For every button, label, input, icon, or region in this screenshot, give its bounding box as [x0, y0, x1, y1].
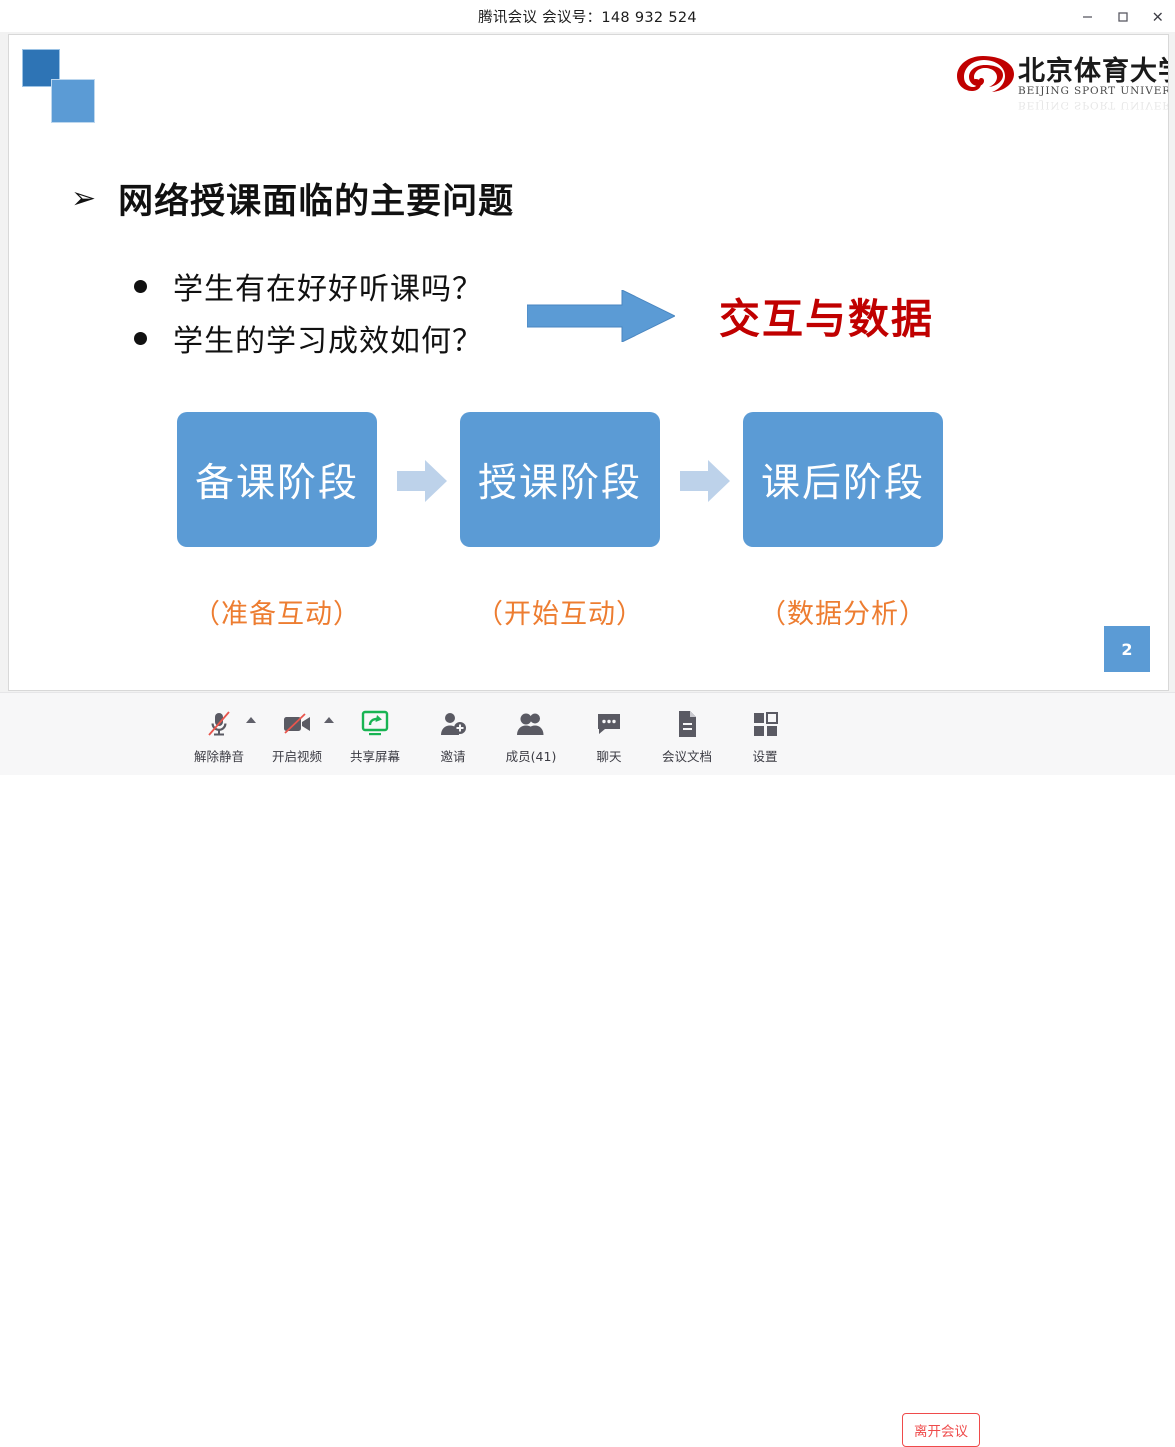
toolbar-button-invite[interactable]: 邀请 [414, 693, 492, 765]
decoration-square-light [51, 79, 95, 123]
flow-stage-label: 授课阶段 [478, 452, 642, 508]
flow-arrow-icon [680, 460, 730, 502]
bullet-text: 学生的学习成效如何？ [173, 316, 483, 360]
meeting-window: 腾讯会议 会议号：148 932 524 [0, 0, 1175, 774]
headline-arrow-icon: ➢ [71, 184, 96, 214]
flow-stage-box: 课后阶段 [743, 412, 943, 547]
toolbar-button-settings[interactable]: 设置 [726, 693, 804, 765]
window-controls [1070, 0, 1175, 32]
toolbar-label-invite: 邀请 [440, 746, 465, 765]
toolbar-button-mute[interactable]: 解除静音 [180, 693, 258, 765]
flow-captions: （准备互动） （开始互动） （数据分析） [177, 592, 967, 634]
participants-icon [513, 707, 549, 741]
slide-headline: ➢ 网络授课面临的主要问题 [71, 173, 514, 224]
chat-bubble-icon [591, 707, 627, 741]
settings-grid-icon [747, 707, 783, 741]
flow-caption: （数据分析） [743, 592, 943, 631]
bullet-dot-icon [134, 332, 147, 345]
logo-english-name: BEIJING SPORT UNIVERSITY [1018, 85, 1169, 97]
callout-arrow-icon [527, 290, 675, 342]
bullet-dot-icon [134, 280, 147, 293]
share-screen-icon [357, 707, 393, 741]
toolbar-button-participants[interactable]: 成员(41) [492, 693, 570, 765]
flow-caption: （准备互动） [177, 592, 377, 631]
flow-stage-box: 授课阶段 [460, 412, 660, 547]
microphone-muted-icon [201, 707, 237, 741]
chevron-up-icon-audio[interactable] [246, 717, 256, 723]
toolbar-label-participants: 成员(41) [506, 746, 557, 765]
chevron-up-icon-video[interactable] [324, 717, 334, 723]
slide-number-badge: 2 [1104, 626, 1150, 672]
logo-reflection: BEIJING SPORT UNIVERSITY [1018, 99, 1169, 111]
maximize-button[interactable] [1105, 0, 1140, 32]
toolbar-label-video: 开启视频 [272, 746, 322, 765]
swirl-mark-icon [952, 53, 1014, 101]
leave-meeting-button[interactable]: 离开会议 [902, 1413, 980, 1447]
camera-off-icon [279, 707, 315, 741]
toolbar-items: 解除静音 开启视频 [180, 693, 1000, 775]
toolbar-label-settings: 设置 [752, 746, 777, 765]
minimize-button[interactable] [1070, 0, 1105, 32]
bullet-list: 学生有在好好听课吗？ 学生的学习成效如何？ [134, 260, 483, 364]
headline-text: 网络授课面临的主要问题 [118, 173, 514, 224]
toolbar-label-documents: 会议文档 [662, 746, 712, 765]
toolbar-label-share-screen: 共享屏幕 [350, 746, 400, 765]
callout-text: 交互与数据 [719, 285, 934, 345]
toolbar-label-chat: 聊天 [596, 746, 621, 765]
bullet-text: 学生有在好好听课吗？ [173, 264, 483, 308]
shared-screen-area: 北京体育大学 BEIJING SPORT UNIVERSITY BEIJING … [0, 32, 1175, 692]
close-button[interactable] [1140, 0, 1175, 32]
list-item: 学生有在好好听课吗？ [134, 260, 483, 312]
process-flow: 备课阶段 授课阶段 课后阶段 [177, 412, 967, 547]
logo-chinese-name: 北京体育大学 [1018, 49, 1169, 88]
flow-arrow-icon [397, 460, 447, 502]
toolbar-button-documents[interactable]: 会议文档 [648, 693, 726, 765]
toolbar-button-share-screen[interactable]: 共享屏幕 [336, 693, 414, 765]
flow-caption: （开始互动） [460, 592, 660, 631]
flow-stage-label: 课后阶段 [761, 452, 925, 508]
toolbar-button-video[interactable]: 开启视频 [258, 693, 336, 765]
toolbar-button-chat[interactable]: 聊天 [570, 693, 648, 765]
title-bar: 腾讯会议 会议号：148 932 524 [0, 0, 1175, 33]
university-logo: 北京体育大学 BEIJING SPORT UNIVERSITY BEIJING … [952, 47, 1152, 122]
document-icon [669, 707, 705, 741]
toolbar-label-mute: 解除静音 [194, 746, 244, 765]
invite-person-icon [435, 707, 471, 741]
meeting-toolbar: 解除静音 开启视频 [0, 692, 1175, 775]
flow-stage-label: 备课阶段 [195, 452, 359, 508]
flow-stage-box: 备课阶段 [177, 412, 377, 547]
presentation-slide: 北京体育大学 BEIJING SPORT UNIVERSITY BEIJING … [8, 34, 1169, 691]
window-title: 腾讯会议 会议号：148 932 524 [478, 6, 697, 27]
list-item: 学生的学习成效如何？ [134, 312, 483, 364]
